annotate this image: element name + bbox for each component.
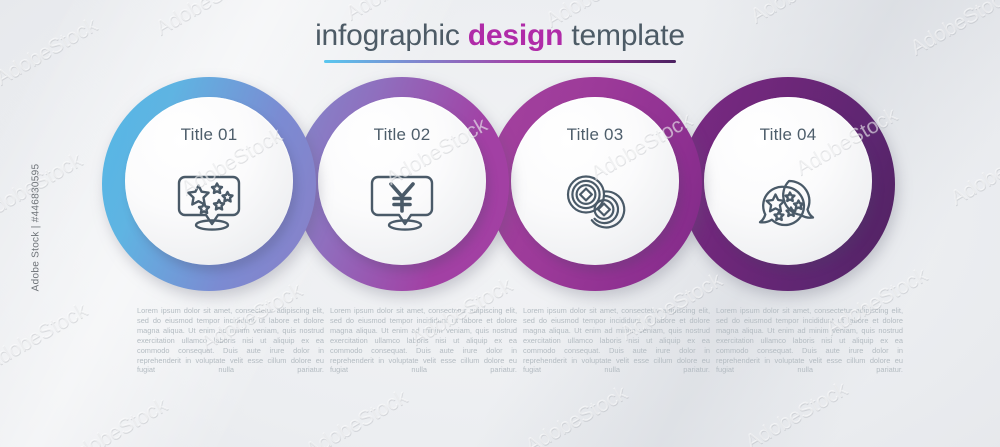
title-lead: infographic xyxy=(315,19,468,52)
page-title: infographic design template xyxy=(0,18,1000,54)
step-card-1[interactable]: Title 01 xyxy=(102,77,316,291)
title-tail: template xyxy=(563,19,685,52)
step-card-3[interactable]: Title 03 xyxy=(488,77,702,291)
step-card-4[interactable]: Title 04 xyxy=(681,77,895,291)
title-accent: design xyxy=(468,19,563,52)
step-title-1: Title 01 xyxy=(102,125,316,145)
chat-bubbles-stars-icon xyxy=(751,171,825,233)
chinese-coins-icon xyxy=(558,171,632,233)
steps-row: Title 01 Title 02 xyxy=(0,77,1000,297)
step-title-4: Title 04 xyxy=(681,125,895,145)
title-underline-gradient xyxy=(324,60,676,63)
speech-bubble-pin-yen-icon xyxy=(365,171,439,233)
step-description-2: Lorem ipsum dolor sit amet, consectetur … xyxy=(330,306,517,385)
speech-bubble-pin-stars-icon xyxy=(172,171,246,233)
descriptions-row: Lorem ipsum dolor sit amet, consectetur … xyxy=(0,306,1000,416)
step-description-1: Lorem ipsum dolor sit amet, consectetur … xyxy=(137,306,324,385)
header: infographic design template xyxy=(0,18,1000,63)
step-title-2: Title 02 xyxy=(295,125,509,145)
step-title-3: Title 03 xyxy=(488,125,702,145)
infographic-canvas: infographic design template Title 01 xyxy=(0,0,1000,447)
step-description-4: Lorem ipsum dolor sit amet, consectetur … xyxy=(716,306,903,385)
step-description-3: Lorem ipsum dolor sit amet, consectetur … xyxy=(523,306,710,385)
step-card-2[interactable]: Title 02 xyxy=(295,77,509,291)
